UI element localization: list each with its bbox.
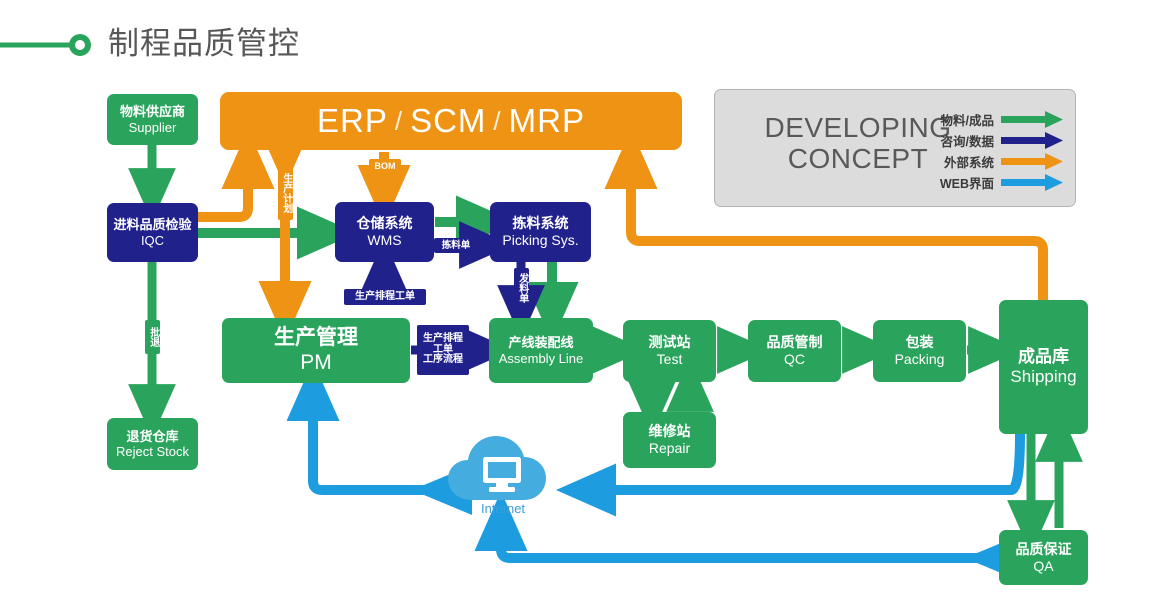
node-reject-en: Reject Stock [116, 444, 189, 459]
edge-label-schedule-order: 生产排程工单 [344, 289, 426, 305]
node-supplier-cn: 物料供应商 [120, 104, 185, 119]
node-repair-station[interactable]: 维修站 Repair [623, 412, 716, 468]
erp-sep-1: / [388, 106, 410, 137]
node-quality-control[interactable]: 品质管制 QC [748, 320, 841, 382]
node-assembly-line[interactable]: 产线装配线 Assembly Line [489, 318, 593, 383]
node-quality-assurance[interactable]: 品质保证 QA [999, 530, 1088, 585]
node-packing[interactable]: 包装 Packing [873, 320, 966, 382]
legend-item-external: 外部系统 [928, 152, 1063, 171]
erp-label: ERP [317, 102, 388, 140]
node-wms-cn: 仓储系统 [357, 215, 413, 232]
node-packing-cn: 包装 [906, 334, 934, 351]
edge-label-bom: BOM [369, 159, 401, 174]
node-qc-en: QC [784, 351, 805, 368]
edge-label-picking-order: 拣料单 [434, 238, 478, 253]
mrp-label: MRP [509, 102, 585, 140]
node-picking-system[interactable]: 拣料系统 Picking Sys. [490, 202, 591, 262]
node-iqc-cn: 进料品质检验 [113, 217, 191, 232]
edge-label-schedule-flow: 生产排程 工单 工序流程 [417, 325, 469, 375]
node-repair-en: Repair [649, 440, 690, 457]
node-qa-en: QA [1033, 558, 1053, 575]
diagram-canvas: 制程品质管控 ERP / SCM / MRP 物料供应商 Supplier 进料… [0, 0, 1150, 595]
node-packing-en: Packing [895, 351, 945, 368]
legend-arrow-blue [1001, 173, 1063, 192]
node-shipping-cn: 成品库 [1018, 347, 1069, 367]
schedule-flow-line-3: 工序流程 [423, 355, 463, 366]
edge-label-issue-order: 发料单 [514, 268, 529, 308]
node-test-cn: 测试站 [649, 334, 691, 351]
node-reject-cn: 退货仓库 [126, 429, 178, 444]
node-layer: 制程品质管控 ERP / SCM / MRP 物料供应商 Supplier 进料… [0, 0, 1150, 595]
node-erp-scm-mrp[interactable]: ERP / SCM / MRP [220, 92, 682, 150]
legend-panel: DEVELOPING CONCEPT 物料/成品 咨询/数据 外部 [714, 89, 1076, 207]
legend-arrow-green [1001, 110, 1063, 129]
edge-label-production-plan: 生产计划 [278, 166, 293, 220]
node-picking-cn: 拣料系统 [513, 215, 569, 232]
node-test-en: Test [657, 351, 683, 368]
node-qc-cn: 品质管制 [767, 334, 823, 351]
node-supplier[interactable]: 物料供应商 Supplier [107, 94, 198, 145]
legend-item-data: 咨询/数据 [928, 131, 1063, 150]
edge-label-batch-reject: 批退 [145, 320, 160, 354]
node-pm-cn: 生产管理 [274, 326, 358, 351]
node-pm-en: PM [300, 351, 332, 376]
node-production-management[interactable]: 生产管理 PM [222, 318, 410, 383]
legend-label-data: 咨询/数据 [928, 131, 1001, 150]
legend-label-external: 外部系统 [928, 152, 1001, 171]
node-shipping[interactable]: 成品库 Shipping [999, 300, 1088, 434]
node-supplier-en: Supplier [129, 120, 177, 135]
node-repair-cn: 维修站 [649, 423, 691, 440]
node-qa-cn: 品质保证 [1016, 541, 1072, 558]
node-iqc-en: IQC [141, 233, 164, 248]
scm-label: SCM [410, 102, 486, 140]
legend-arrow-orange [1001, 152, 1063, 171]
node-wms[interactable]: 仓储系统 WMS [335, 202, 434, 262]
legend-item-material: 物料/成品 [928, 110, 1063, 129]
legend-item-web: WEB界面 [928, 173, 1063, 192]
legend-items: 物料/成品 咨询/数据 外部系统 [928, 110, 1063, 194]
node-wms-en: WMS [367, 232, 401, 249]
node-test-station[interactable]: 测试站 Test [623, 320, 716, 382]
node-picking-en: Picking Sys. [502, 232, 578, 249]
legend-label-web: WEB界面 [928, 173, 1001, 192]
internet-label: Internet [448, 501, 558, 516]
erp-sep-2: / [486, 106, 508, 137]
node-assembly-cn: 产线装配线 [508, 335, 573, 350]
page-title: 制程品质管控 [108, 18, 300, 63]
node-reject-stock[interactable]: 退货仓库 Reject Stock [107, 418, 198, 470]
cloud-monitor-icon [446, 432, 561, 507]
node-assembly-en: Assembly Line [499, 351, 584, 366]
node-iqc[interactable]: 进料品质检验 IQC [107, 203, 198, 262]
node-shipping-en: Shipping [1010, 367, 1076, 387]
legend-label-material: 物料/成品 [928, 110, 1001, 129]
legend-arrow-navy [1001, 131, 1063, 150]
